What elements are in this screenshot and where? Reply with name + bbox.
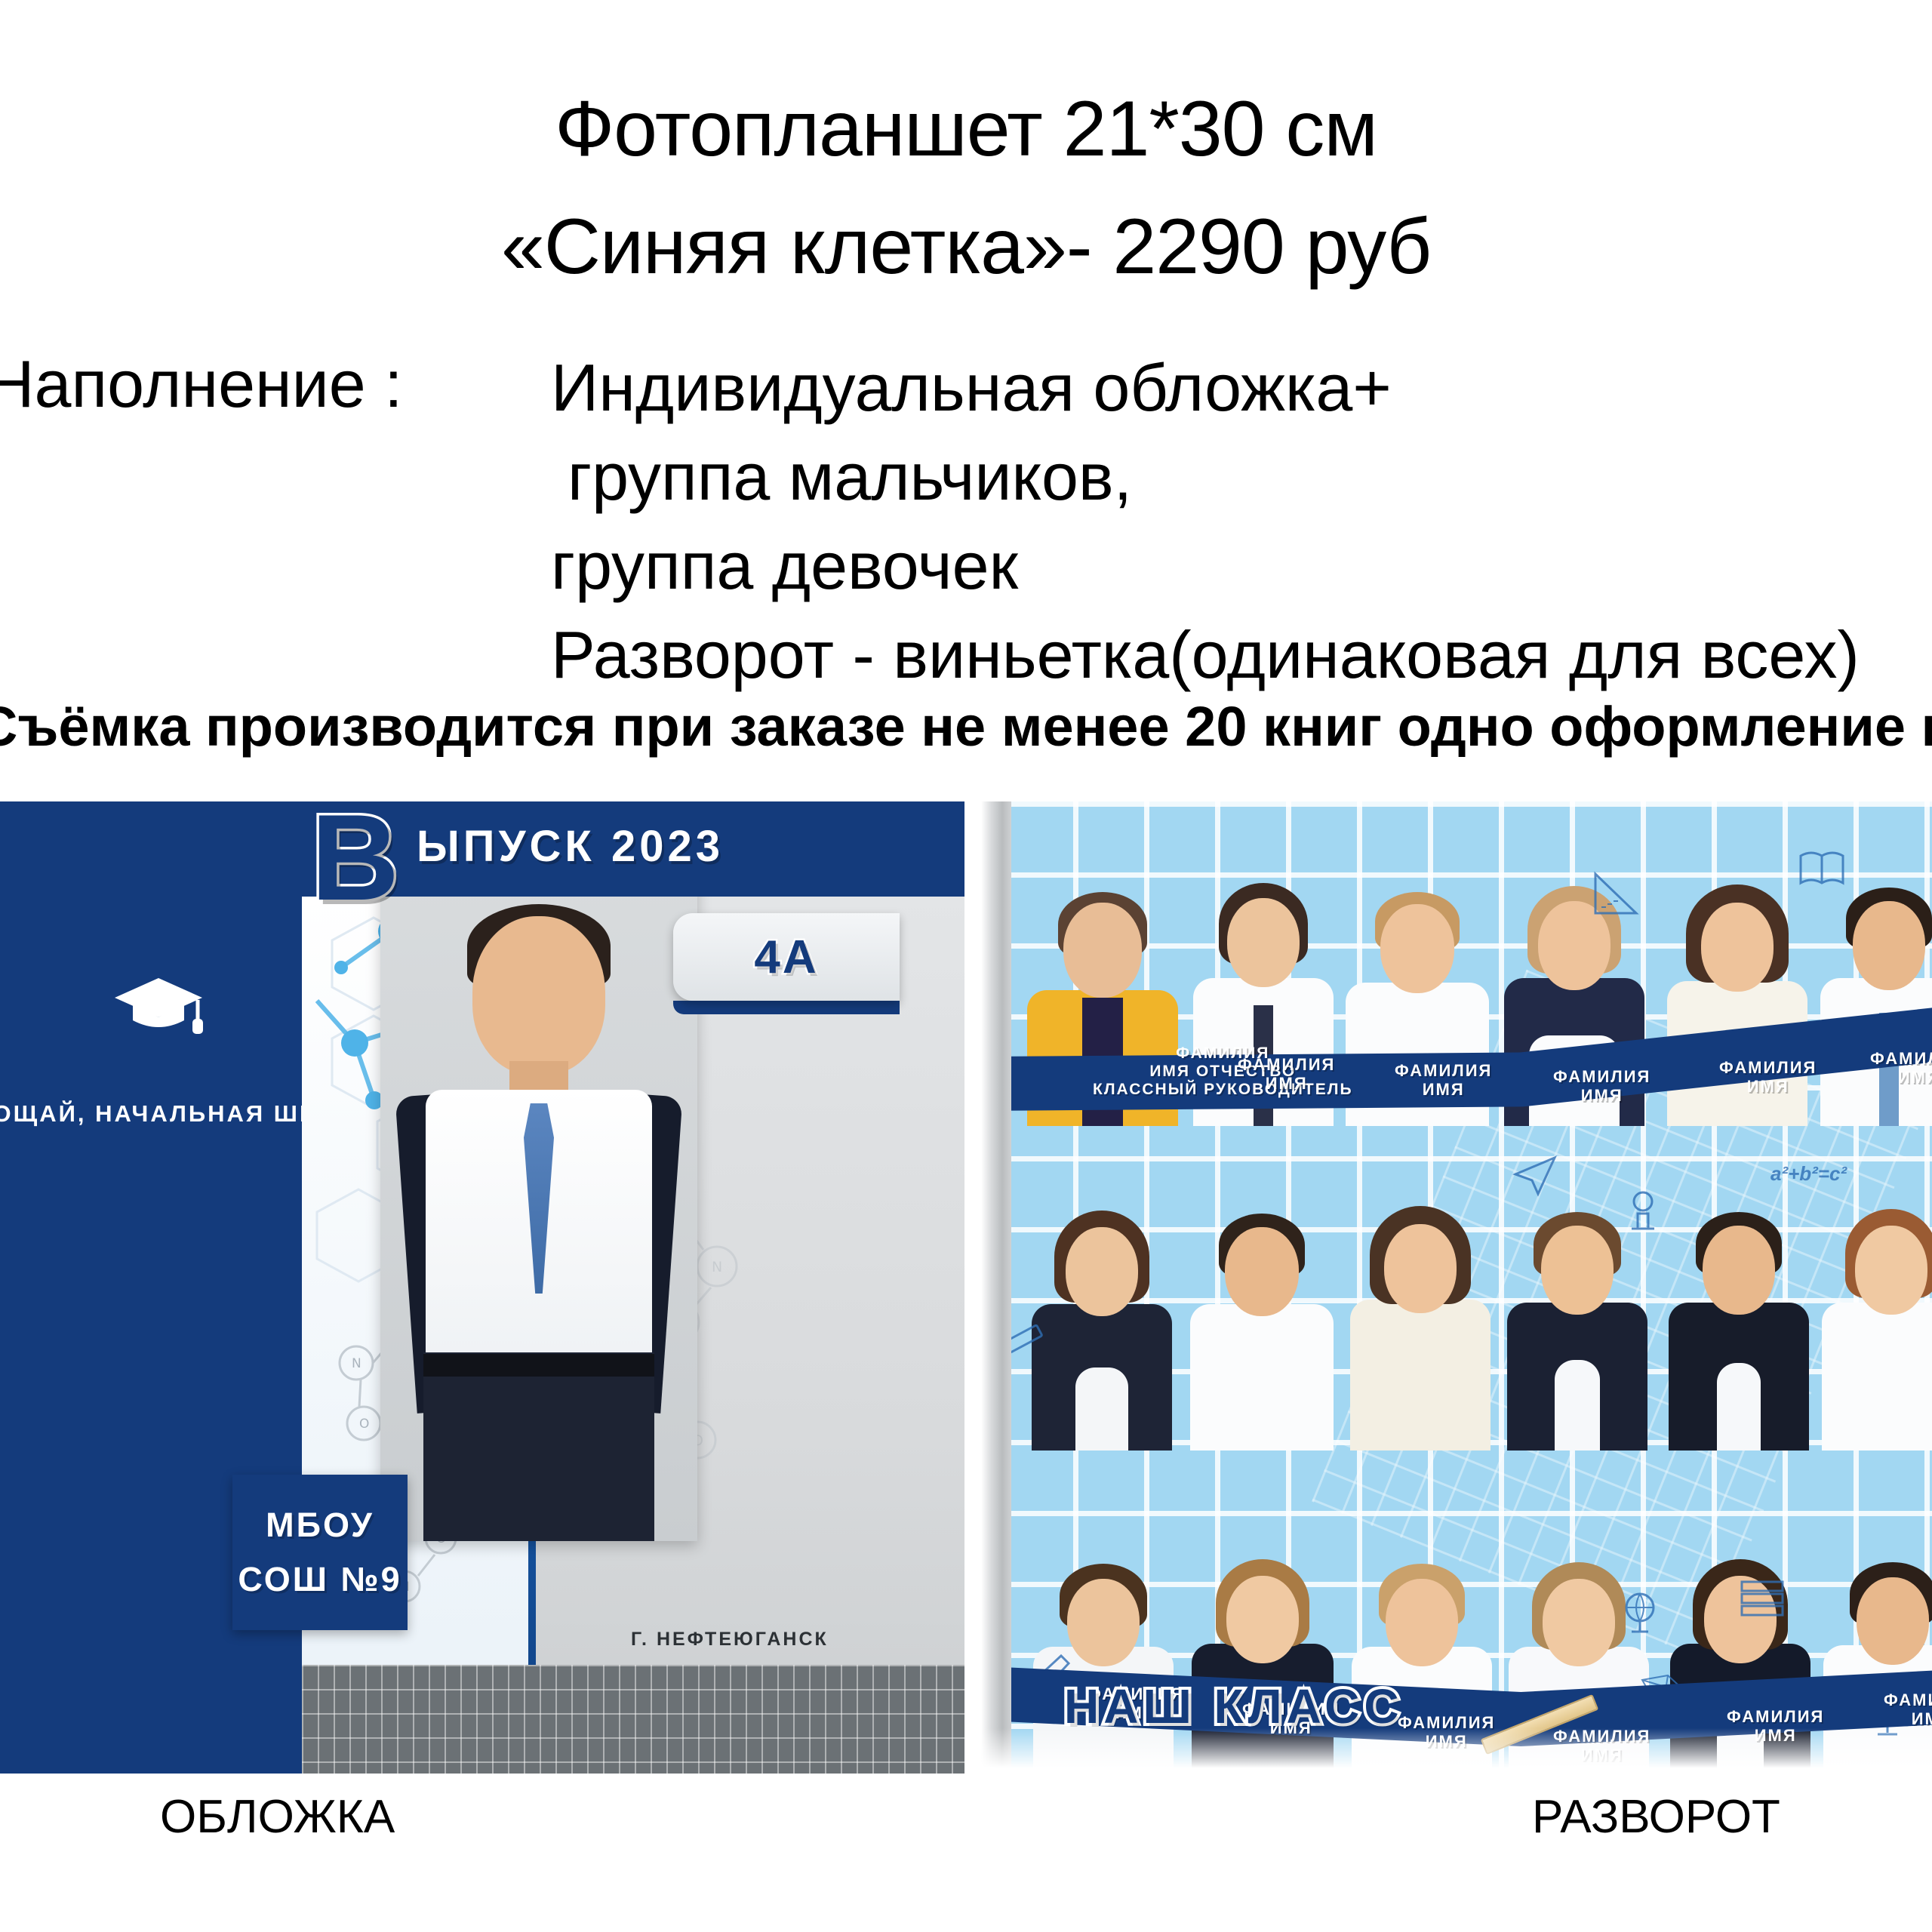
svg-text:N: N: [712, 1259, 722, 1275]
contents-list: Индивидуальная обложка+ группа мальчиков…: [551, 343, 1860, 700]
slide-root: Фотопланшет 21*30 см «Синяя клетка»- 229…: [0, 0, 1932, 1932]
person-student: [1186, 1200, 1337, 1451]
cover-front-panel: NO NO O NO ON: [302, 801, 964, 1774]
grid-footer-band: [302, 1665, 964, 1774]
class-badge-label: 4А: [754, 931, 818, 984]
person-student: [1819, 1198, 1932, 1451]
microscope-icon: [1615, 1186, 1665, 1236]
order-note: Съёмка производится при заказе не менее …: [0, 694, 1932, 758]
formula-text: a²+b²=c²: [1770, 1162, 1847, 1186]
city-label: Г. НЕФТЕЮГАНСК: [631, 1629, 829, 1651]
book-spine: [981, 801, 1011, 1774]
books-stack-icon: [1736, 1574, 1789, 1623]
school-badge: МБОУ СОШ №9: [232, 1475, 408, 1630]
paper-plane-icon: [1512, 1155, 1558, 1197]
our-class-title: НАШ КЛАСС: [1064, 1678, 1404, 1734]
name-student: ФАМИЛИЯИМЯ: [1553, 1067, 1651, 1105]
page-title-line2: «Синяя клетка»- 2290 руб: [0, 202, 1932, 292]
release-label: ЫПУСК 2023: [417, 821, 724, 872]
spread-bottom-fade: [981, 1728, 1932, 1774]
contents-item-1: группа мальчиков,: [551, 432, 1860, 521]
logo-letter: В: [311, 801, 399, 919]
spread-artwork: ФАМИЛИЯ ИМЯ ОТЧЕСТВО КЛАССНЫЙ РУКОВОДИТЕ…: [981, 801, 1932, 1774]
person-student: [1817, 874, 1932, 1126]
school-line-1: МБОУ: [266, 1506, 374, 1545]
name-student: ФАМИЛИЯИМЯ: [1395, 1061, 1492, 1099]
name-student: ФАМИЛИЯИМЯ: [1238, 1055, 1335, 1093]
name-student: ФАМИЛИЯИМЯ: [1719, 1058, 1817, 1096]
contents-label: Наполнение :: [0, 346, 403, 423]
person-student: [1665, 1198, 1813, 1451]
person-student: [1503, 1198, 1651, 1451]
caption-cover: ОБЛОЖКА: [160, 1790, 395, 1844]
cover-artwork: ПРОЩАЙ, НАЧАЛЬНАЯ ШКОЛА!: [0, 801, 964, 1774]
contents-item-0: Индивидуальная обложка+: [551, 343, 1860, 432]
caption-spread: РАЗВОРОТ: [1532, 1790, 1780, 1844]
school-line-2: СОШ №9: [238, 1560, 401, 1599]
page-title-line1: Фотопланшет 21*30 см: [0, 85, 1932, 174]
name-student: ФАМИЛИЯИМЯ: [1870, 1049, 1932, 1087]
class-badge-tail: [673, 1001, 900, 1014]
student-portrait: [380, 829, 697, 1541]
book-icon: [1798, 848, 1846, 889]
spread-row-1: ФАМИЛИЯ ИМЯ ОТЧЕСТВО КЛАССНЫЙ РУКОВОДИТЕ…: [1002, 801, 1932, 1126]
name-student: ФАМИЛИЯИМЯ: [1884, 1690, 1932, 1728]
triangle-ruler-icon: [1589, 866, 1642, 919]
svg-text:O: O: [359, 1417, 369, 1432]
contents-item-3: Разворот - виньетка(одинаковая для всех): [551, 611, 1860, 700]
student-figure: [388, 877, 690, 1541]
graduation-cap-icon: [113, 974, 204, 1040]
svg-text:N: N: [352, 1356, 361, 1371]
globe-icon: [1615, 1588, 1665, 1638]
class-badge: 4А: [673, 913, 900, 1001]
person-student: [1028, 1200, 1176, 1451]
person-student: [1346, 1197, 1494, 1451]
contents-item-2: группа девочек: [551, 521, 1860, 611]
